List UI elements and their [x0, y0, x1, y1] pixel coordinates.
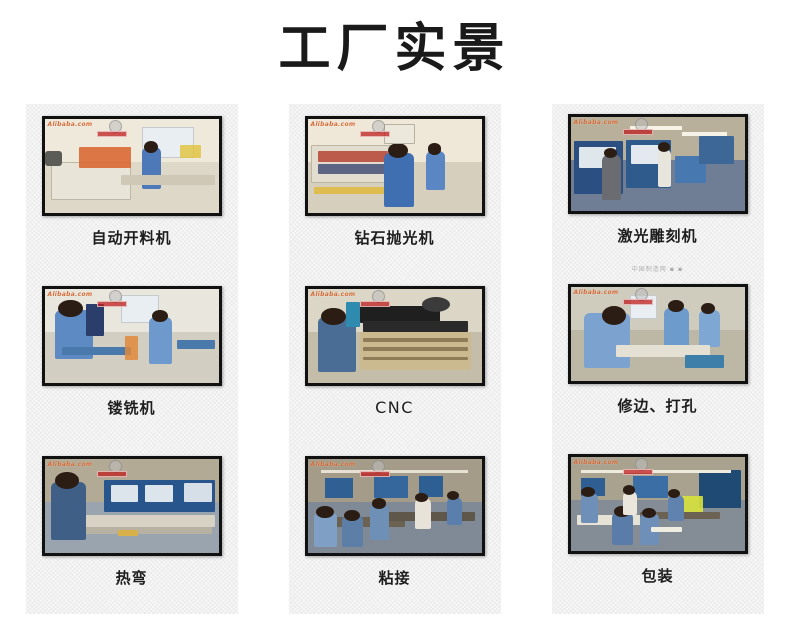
watermark-banner-icon [623, 469, 653, 475]
scene-element-head [372, 498, 386, 508]
photo-scene [308, 459, 482, 553]
scene-element-head [428, 143, 442, 154]
scene-element-mach [111, 485, 139, 502]
gallery-cell: Alibaba.com自动开料机 [0, 104, 263, 274]
photo-scene [45, 289, 219, 383]
scene-element-head [668, 300, 684, 312]
gallery-card[interactable]: Alibaba.com包装 [552, 444, 764, 614]
scene-element-mach [422, 297, 450, 312]
scene-element-worker [51, 482, 86, 540]
scene-element-mach [86, 304, 103, 336]
scene-element-worker [149, 317, 172, 364]
factory-photo[interactable]: Alibaba.com [42, 456, 222, 556]
scene-element-head [602, 306, 626, 325]
scene-element-mach [699, 470, 741, 508]
photo-caption: 热弯 [115, 568, 147, 588]
watermark-banner-icon [360, 131, 390, 137]
photo-caption: 粘接 [378, 568, 410, 588]
scene-element-head [321, 308, 345, 325]
alibaba-watermark: Alibaba.com [48, 461, 93, 469]
scene-element-worker [699, 310, 720, 348]
scene-element-mach [62, 347, 132, 355]
photo-caption: CNC [375, 398, 414, 418]
scene-element-mach [177, 340, 215, 349]
alibaba-watermark: Alibaba.com [48, 291, 93, 299]
scene-element-mach [125, 336, 139, 360]
gallery-card[interactable]: Alibaba.com钻石抛光机 [289, 104, 501, 274]
scene-element-mach [184, 483, 212, 502]
gallery-cell: Alibaba.comCNC [263, 274, 526, 444]
scene-element-worker [447, 497, 463, 525]
scene-element-mach [51, 162, 131, 200]
scene-element-head [316, 506, 333, 518]
gallery-card[interactable]: Alibaba.com热弯 [26, 444, 238, 614]
factory-photo[interactable]: Alibaba.com [42, 286, 222, 386]
gallery-cell: Alibaba.com钻石抛光机 [263, 104, 526, 274]
scene-element-worker [658, 149, 672, 187]
scene-element-head [344, 510, 360, 521]
factory-photo[interactable]: Alibaba.com [42, 116, 222, 216]
artifact-text: 中国制造网 ◾ ◾ [552, 264, 764, 273]
scene-element-worker [384, 153, 414, 208]
scene-element-mach [346, 302, 360, 326]
scene-element-mach [145, 485, 173, 502]
alibaba-watermark: Alibaba.com [311, 291, 356, 299]
gallery-card[interactable]: 中国制造网 ◾ ◾Alibaba.com修边、打孔 [552, 274, 764, 444]
factory-photo[interactable]: Alibaba.com [568, 454, 748, 554]
photo-grid: Alibaba.com自动开料机Alibaba.com钻石抛光机Alibaba.… [0, 104, 789, 614]
scene-element-head [701, 303, 715, 314]
scene-element-beam [321, 470, 467, 473]
factory-photo[interactable]: Alibaba.com [305, 286, 485, 386]
scene-element-worker [415, 498, 431, 528]
photo-caption: 镂铣机 [107, 398, 155, 418]
gallery-card[interactable]: Alibaba.com粘接 [289, 444, 501, 614]
scene-element-mach [180, 145, 201, 158]
watermark-banner-icon [97, 301, 127, 307]
photo-caption: 自动开料机 [91, 228, 171, 248]
scene-element-worker [426, 151, 445, 190]
photo-scene [45, 459, 219, 553]
gallery-card[interactable]: Alibaba.com自动开料机 [26, 104, 238, 274]
watermark-banner-icon [360, 471, 390, 477]
scene-element-worker [668, 495, 684, 521]
watermark-banner-icon [360, 301, 390, 307]
scene-element-mach [363, 321, 467, 332]
photo-caption: 修边、打孔 [617, 396, 697, 416]
gallery-cell: Alibaba.com激光雕刻机 [526, 104, 789, 274]
scene-element-win [374, 476, 409, 499]
scene-element-worker [602, 155, 621, 200]
gallery-card[interactable]: Alibaba.com镂铣机 [26, 274, 238, 444]
photo-scene [571, 117, 745, 211]
scene-element-mach [685, 355, 723, 368]
photo-scene [571, 457, 745, 551]
scene-element-mach [318, 164, 388, 173]
alibaba-watermark: Alibaba.com [574, 459, 619, 467]
scene-element-head [623, 485, 635, 494]
scene-element-head [642, 508, 656, 518]
gallery-cell: Alibaba.com粘接 [263, 444, 526, 614]
watermark-banner-icon [623, 299, 653, 305]
alibaba-watermark: Alibaba.com [311, 121, 356, 129]
photo-caption: 激光雕刻机 [617, 226, 697, 246]
watermark-banner-icon [97, 131, 127, 137]
scene-element-head [58, 300, 82, 317]
alibaba-watermark: Alibaba.com [574, 289, 619, 297]
gallery-card[interactable]: Alibaba.comCNC [289, 274, 501, 444]
factory-photo[interactable]: Alibaba.com [305, 456, 485, 556]
factory-gallery-page: 工厂实景 Alibaba.com自动开料机Alibaba.com钻石抛光机Ali… [0, 0, 789, 623]
scene-element-mach [79, 147, 131, 168]
scene-element-head [658, 142, 670, 151]
scene-element-mach [363, 338, 467, 342]
scene-element-head [144, 141, 158, 153]
scene-element-mach [363, 347, 467, 351]
scene-element-win [325, 478, 353, 499]
scene-element-mach [699, 136, 734, 164]
photo-caption: 包装 [641, 566, 673, 586]
factory-photo[interactable]: Alibaba.com [568, 114, 748, 214]
photo-scene [45, 119, 219, 213]
watermark-banner-icon [623, 129, 653, 135]
scene-element-head [415, 493, 427, 502]
gallery-cell: Alibaba.com包装 [526, 444, 789, 614]
gallery-cell: Alibaba.com热弯 [0, 444, 263, 614]
scene-element-mach [45, 151, 62, 166]
alibaba-watermark: Alibaba.com [311, 461, 356, 469]
scene-element-head [152, 310, 168, 322]
scene-element-worker [370, 504, 389, 540]
photo-scene [571, 287, 745, 381]
scene-element-worker [581, 493, 598, 523]
scene-element-mach [651, 527, 682, 533]
scene-element-mach [121, 175, 215, 184]
alibaba-watermark: Alibaba.com [48, 121, 93, 129]
scene-element-mach [363, 357, 467, 361]
page-title: 工厂实景 [0, 14, 789, 84]
scene-element-mach [86, 527, 211, 535]
scene-element-mach [318, 151, 388, 162]
photo-caption: 钻石抛光机 [354, 228, 434, 248]
scene-element-win [633, 476, 668, 499]
photo-scene [308, 119, 482, 213]
gallery-cell: 中国制造网 ◾ ◾Alibaba.com修边、打孔 [526, 274, 789, 444]
factory-photo[interactable]: Alibaba.com [305, 116, 485, 216]
photo-scene [308, 289, 482, 383]
gallery-cell: Alibaba.com镂铣机 [0, 274, 263, 444]
scene-element-beam [581, 470, 731, 473]
gallery-card[interactable]: Alibaba.com激光雕刻机 [552, 104, 764, 274]
watermark-banner-icon [97, 471, 127, 477]
factory-photo[interactable]: Alibaba.com [568, 284, 748, 384]
scene-element-mach [118, 530, 139, 536]
scene-element-mach [79, 515, 215, 526]
alibaba-watermark: Alibaba.com [574, 119, 619, 127]
